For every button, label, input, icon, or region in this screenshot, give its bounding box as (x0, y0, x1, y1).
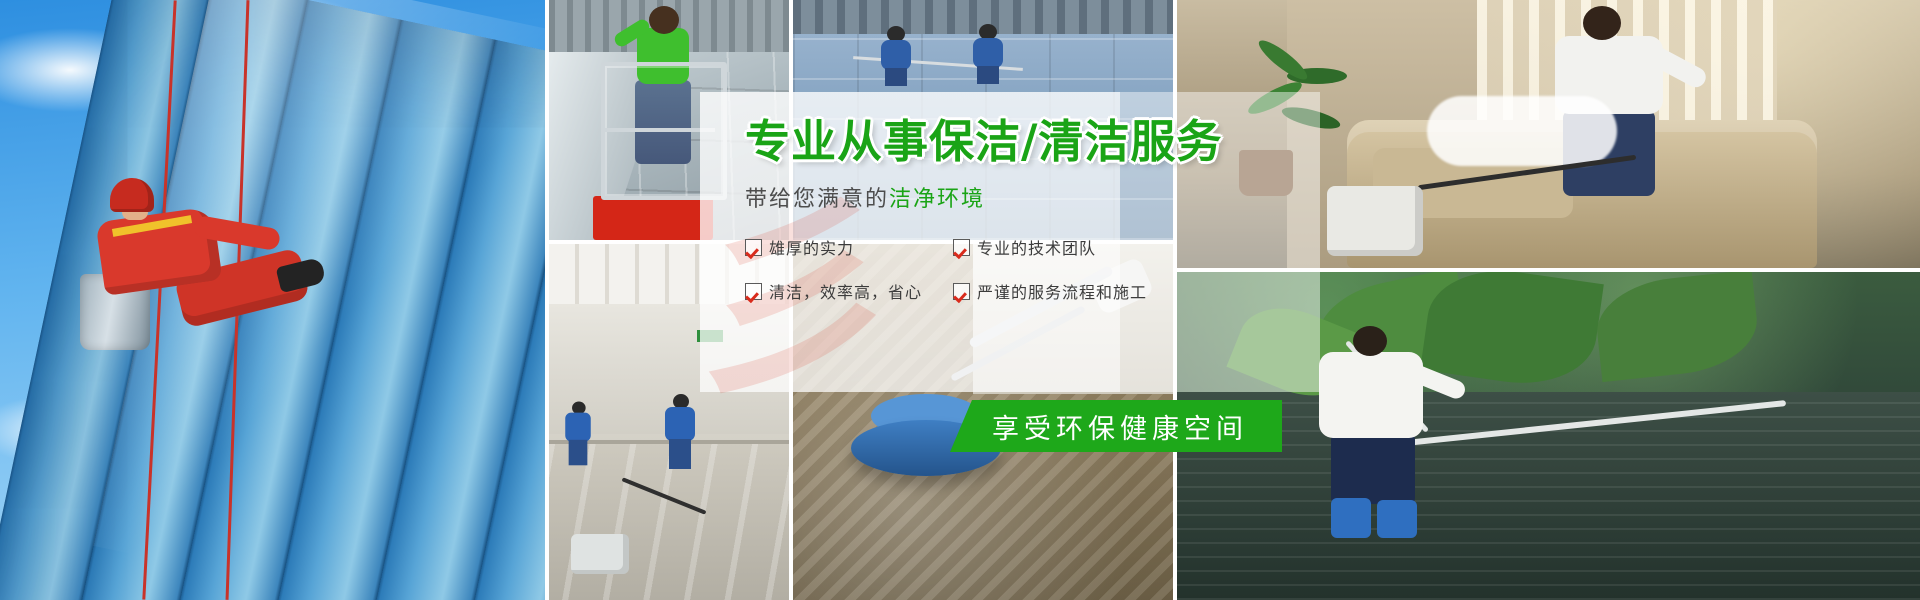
subtitle-prefix: 带给您满意的 (745, 187, 889, 212)
feature-item: 严谨的服务流程和施工 (953, 279, 1145, 303)
subtitle-highlight: 洁净环境 (889, 187, 985, 212)
page-title: 专业从事保洁/清洁服务 (745, 118, 1385, 165)
feature-label: 雄厚的实力 (769, 235, 854, 259)
checkbox-checked-icon (745, 239, 762, 256)
seam-vertical-1 (545, 0, 549, 600)
photo-rope-access-window-cleaner (0, 0, 545, 600)
feature-item: 雄厚的实力 (745, 235, 935, 259)
checkbox-checked-icon (953, 239, 970, 256)
cleaning-service-banner: 彡 专业从事保洁/清洁服务 带给您满意的洁净环境 雄厚的实力 专业的技术团队 清… (0, 0, 1920, 600)
feature-label: 专业的技术团队 (977, 235, 1096, 259)
feature-label: 严谨的服务流程和施工 (977, 279, 1147, 303)
feature-list: 雄厚的实力 专业的技术团队 清洁，效率高，省心 严谨的服务流程和施工 (745, 235, 1145, 303)
banner-subtitle: 带给您满意的洁净环境 (745, 181, 1385, 213)
checkbox-checked-icon (953, 283, 970, 300)
cta-button[interactable]: 享受环保健康空间 (950, 400, 1282, 452)
banner-content: 专业从事保洁/清洁服务 带给您满意的洁净环境 雄厚的实力 专业的技术团队 清洁，… (745, 118, 1385, 303)
checkbox-checked-icon (745, 283, 762, 300)
feature-item: 清洁，效率高，省心 (745, 279, 935, 303)
feature-label: 清洁，效率高，省心 (769, 279, 922, 303)
feature-item: 专业的技术团队 (953, 235, 1145, 259)
